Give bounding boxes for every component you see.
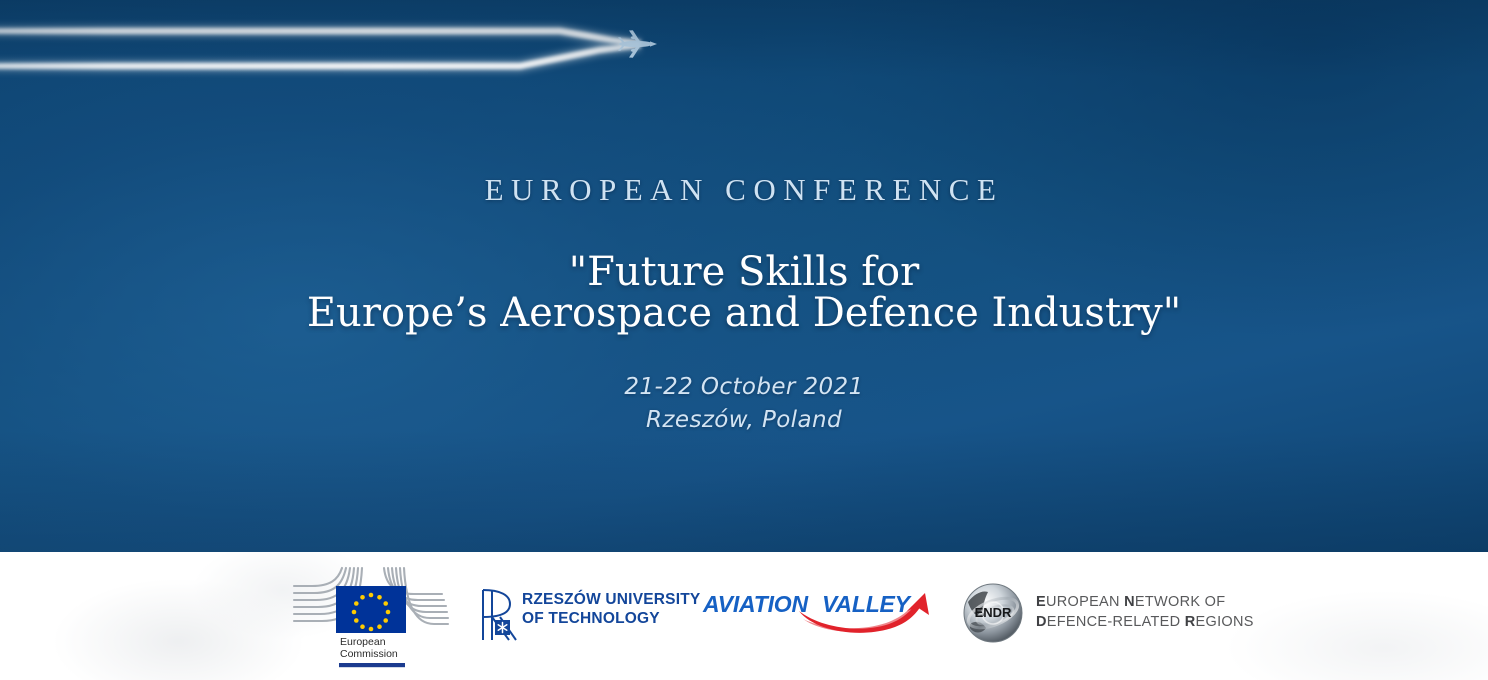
logo-european-commission[interactable]: European Commission bbox=[292, 564, 450, 672]
logo-footer: European Commission bbox=[0, 552, 1488, 680]
rut-monogram-icon bbox=[478, 586, 518, 644]
conference-banner: EUROPEAN CONFERENCE "Future Skills for E… bbox=[0, 0, 1488, 680]
endr-name-line-2: DEFENCE-RELATED REGIONS bbox=[1036, 614, 1254, 630]
rut-name-line-2: OF TECHNOLOGY bbox=[522, 610, 660, 627]
aviation-valley-swoosh-icon bbox=[703, 589, 931, 641]
endr-emblem-label: ENDR bbox=[975, 605, 1012, 620]
title-line-2: Europe’s Aerospace and Defence Industry" bbox=[0, 293, 1488, 334]
airplane-icon bbox=[618, 30, 657, 58]
endr-name-line-1: EUROPEAN NETWORK OF bbox=[1036, 594, 1225, 610]
logo-rzeszow-university[interactable]: RZESZÓW UNIVERSITY OF TECHNOLOGY bbox=[478, 584, 674, 646]
endr-name: EUROPEAN NETWORK OF DEFENCE-RELATED REGI… bbox=[1036, 592, 1254, 632]
event-location: Rzeszów, Poland bbox=[0, 404, 1488, 437]
eyebrow-heading: EUROPEAN CONFERENCE bbox=[0, 172, 1488, 208]
title-line-1: "Future Skills for bbox=[0, 252, 1488, 293]
rut-name-line-1: RZESZÓW UNIVERSITY bbox=[522, 591, 700, 608]
logo-aviation-valley[interactable]: AVIATION VALLEY bbox=[703, 589, 931, 641]
rut-name: RZESZÓW UNIVERSITY OF TECHNOLOGY bbox=[522, 590, 700, 628]
page-title: "Future Skills for Europe’s Aerospace an… bbox=[0, 252, 1488, 334]
event-date: 21-22 October 2021 bbox=[0, 371, 1488, 404]
european-commission-emblem: European Commission bbox=[292, 564, 450, 672]
event-meta: 21-22 October 2021 Rzeszów, Poland bbox=[0, 371, 1488, 437]
contrail-graphic bbox=[0, 0, 1488, 120]
logo-endr[interactable]: ENDR EUROPEAN NETWORK OF DEFENCE-RELATED… bbox=[962, 580, 1212, 646]
partner-logos: European Commission bbox=[0, 552, 1488, 680]
ec-caption-line-2: Commission bbox=[340, 648, 398, 660]
ec-caption-line-1: European bbox=[340, 636, 386, 648]
endr-emblem-icon: ENDR bbox=[962, 582, 1024, 644]
